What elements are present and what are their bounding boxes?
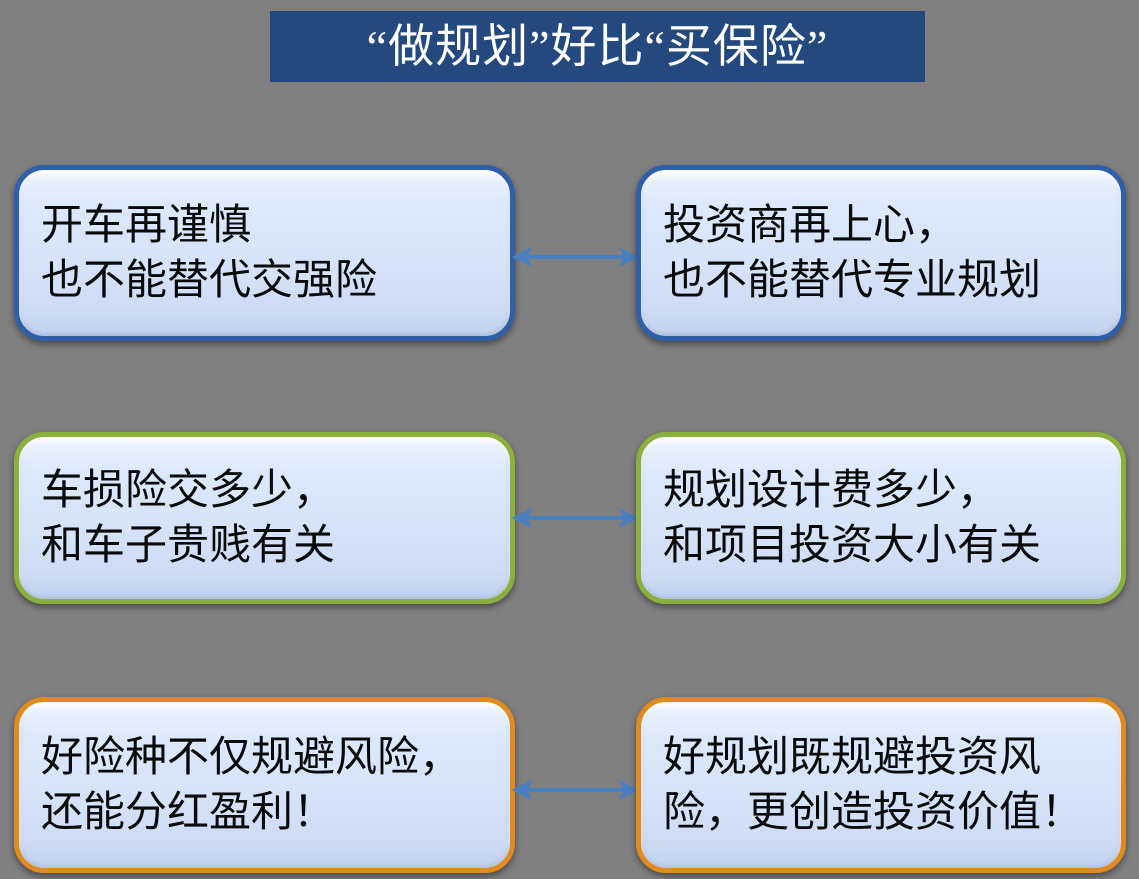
box-line: 险，更创造投资价值！ (663, 785, 1107, 840)
box-line: 和项目投资大小有关 (663, 518, 1107, 573)
comparison-box-row3-left: 好险种不仅规避风险， 还能分红盈利！ (14, 697, 515, 873)
slide-canvas: “做规划”好比“买保险” 开车再谨慎 也不能替代交强险 投资商再上心， 也不能替… (0, 0, 1139, 879)
double-arrow-row3 (511, 775, 640, 805)
box-text-block: 规划设计费多少， 和项目投资大小有关 (641, 463, 1121, 572)
box-text-block: 车损险交多少， 和车子贵贱有关 (19, 463, 510, 572)
box-line: 和车子贵贱有关 (41, 518, 496, 573)
comparison-box-row3-right: 好规划既规避投资风 险，更创造投资价值！ (636, 697, 1126, 873)
box-line: 开车再谨慎 (41, 198, 496, 253)
box-line: 还能分红盈利！ (41, 785, 496, 840)
comparison-box-row2-right: 规划设计费多少， 和项目投资大小有关 (636, 432, 1126, 604)
comparison-box-row2-left: 车损险交多少， 和车子贵贱有关 (14, 432, 515, 604)
box-text-block: 好规划既规避投资风 险，更创造投资价值！ (641, 730, 1121, 839)
double-arrow-row1 (511, 242, 640, 272)
box-line: 投资商再上心， (663, 198, 1107, 253)
comparison-box-row1-right: 投资商再上心， 也不能替代专业规划 (636, 165, 1126, 341)
comparison-box-row1-left: 开车再谨慎 也不能替代交强险 (14, 165, 515, 341)
box-text-block: 投资商再上心， 也不能替代专业规划 (641, 198, 1121, 307)
title-banner: “做规划”好比“买保险” (270, 11, 925, 82)
page-title: “做规划”好比“买保险” (367, 24, 829, 70)
box-line: 规划设计费多少， (663, 463, 1107, 518)
box-line: 好险种不仅规避风险， (41, 730, 496, 785)
box-text-block: 开车再谨慎 也不能替代交强险 (19, 198, 510, 307)
box-line: 好规划既规避投资风 (663, 730, 1107, 785)
box-text-block: 好险种不仅规避风险， 还能分红盈利！ (19, 730, 510, 839)
double-arrow-row2 (511, 503, 640, 533)
box-line: 也不能替代专业规划 (663, 253, 1107, 308)
box-line: 也不能替代交强险 (41, 253, 496, 308)
box-line: 车损险交多少， (41, 463, 496, 518)
